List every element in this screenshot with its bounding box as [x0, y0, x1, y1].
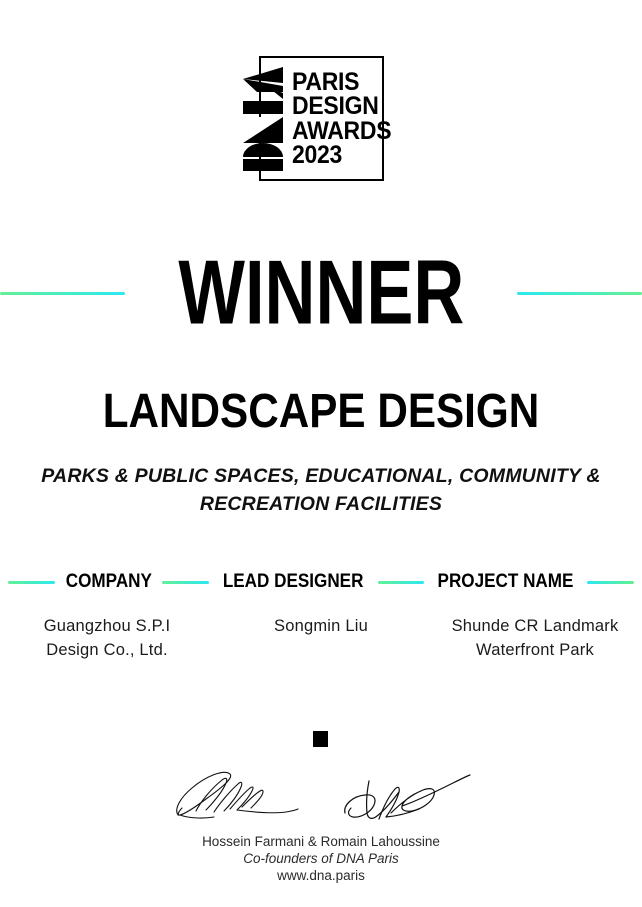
credit-header-project-name: PROJECT NAME — [432, 572, 579, 592]
credits-section: COMPANY LEAD DESIGNER PROJECT NAME Guang… — [0, 572, 642, 662]
credit-value-company-line1: Guangzhou S.P.I — [6, 614, 208, 638]
signoff-names: Hossein Farmani & Romain Lahoussine — [0, 833, 642, 850]
credits-header-row: COMPANY LEAD DESIGNER PROJECT NAME — [0, 572, 642, 592]
winner-rule-right — [517, 292, 642, 295]
credit-value-project-name-line1: Shunde CR Landmark — [434, 614, 636, 638]
signatures-row — [0, 765, 642, 827]
credit-value-company: Guangzhou S.P.I Design Co., Ltd. — [0, 614, 214, 662]
logo-line-design: DESIGN — [292, 94, 391, 119]
credit-value-company-line2: Design Co., Ltd. — [6, 638, 208, 662]
credit-header-lead-designer: LEAD DESIGNER — [218, 572, 369, 592]
logo-line-year: 2023 — [292, 143, 391, 168]
winner-banner: WINNER — [0, 243, 642, 343]
credit-rule-4 — [587, 581, 634, 584]
winner-rule-left — [0, 292, 125, 295]
logo-line-awards: AWARDS — [292, 119, 391, 144]
signoff-url: www.dna.paris — [0, 867, 642, 884]
logo-wordmark: PARIS DESIGN AWARDS 2023 — [292, 70, 400, 168]
winner-title: WINNER — [178, 247, 464, 338]
credit-value-project-name-line2: Waterfront Park — [434, 638, 636, 662]
credit-rule-2 — [162, 581, 209, 584]
award-category: LANDSCAPE DESIGN — [39, 386, 604, 438]
credit-rule-1 — [8, 581, 55, 584]
seal-square-marker — [313, 731, 328, 747]
signoff-block: Hossein Farmani & Romain Lahoussine Co-f… — [0, 833, 642, 884]
logo-line-paris: PARIS — [292, 70, 391, 95]
credit-value-lead-designer-line1: Songmin Liu — [220, 614, 422, 638]
credit-rule-3 — [378, 581, 425, 584]
award-logo: PARIS DESIGN AWARDS 2023 — [0, 56, 642, 181]
certificate-page: { "logo": { "mark_name": "dna-monogram",… — [0, 0, 642, 907]
logo-content: PARIS DESIGN AWARDS 2023 — [243, 67, 400, 171]
credit-header-company: COMPANY — [60, 572, 157, 592]
signoff-role: Co-founders of DNA Paris — [0, 850, 642, 867]
dna-monogram-icon — [243, 67, 285, 171]
credit-value-project-name: Shunde CR Landmark Waterfront Park — [428, 614, 642, 662]
award-subcategory: PARKS & PUBLIC SPACES, EDUCATIONAL, COMM… — [26, 462, 616, 518]
romain-lahoussine-signature — [339, 765, 474, 827]
logo-frame: PARIS DESIGN AWARDS 2023 — [259, 56, 384, 181]
credit-value-lead-designer: Songmin Liu — [214, 614, 428, 662]
hossein-farmani-signature — [168, 765, 303, 827]
credits-value-row: Guangzhou S.P.I Design Co., Ltd. Songmin… — [0, 614, 642, 662]
